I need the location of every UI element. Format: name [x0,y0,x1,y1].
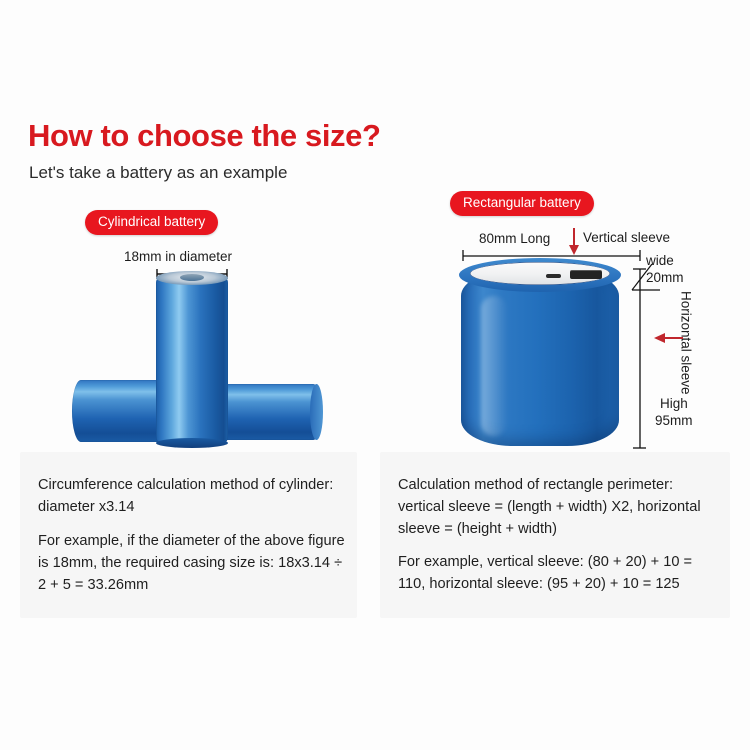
rect-battery-body [461,270,619,446]
cylindrical-formula-text: Circumference calculation method of cyli… [38,474,342,518]
cylindrical-battery-image [60,262,330,452]
panel-cylindrical-calculation: Circumference calculation method of cyli… [20,452,357,618]
label-rect-length: 80mm Long [479,231,550,247]
rectangular-battery-image [455,258,635,448]
label-rect-high: High [660,396,688,412]
panel-rectangular-calculation: Calculation method of rectangle perimete… [380,452,730,618]
badge-cylindrical-battery: Cylindrical battery [85,210,218,235]
arrow-down-icon [566,228,582,256]
cylinder-cap-right [310,384,323,440]
cylinder-bottom [156,438,228,448]
cylinder-cell-horizontal-right [212,384,322,440]
rect-battery-top-face [470,262,610,285]
label-vertical-sleeve: Vertical sleeve [583,230,670,246]
rectangular-example-text: For example, vertical sleeve: (80 + 20) … [398,551,716,595]
page-subtitle: Let's take a battery as an example [29,163,287,183]
cylindrical-example-text: For example, if the diameter of the abov… [38,530,346,597]
rect-battery-terminal [570,270,602,279]
rect-battery-vent-slot [546,274,561,278]
badge-rectangular-battery: Rectangular battery [450,191,594,216]
label-rect-high-value: 95mm [655,413,693,429]
rectangular-formula-text: Calculation method of rectangle perimete… [398,474,716,541]
infographic-page: How to choose the size? Let's take a bat… [0,0,750,750]
cylinder-positive-terminal [180,274,204,281]
rect-battery-top-rim [459,258,621,292]
page-title: How to choose the size? [28,118,381,154]
arrow-left-icon [652,330,684,346]
cylinder-cell-upright [156,276,228,444]
rect-battery-highlight [481,296,507,436]
